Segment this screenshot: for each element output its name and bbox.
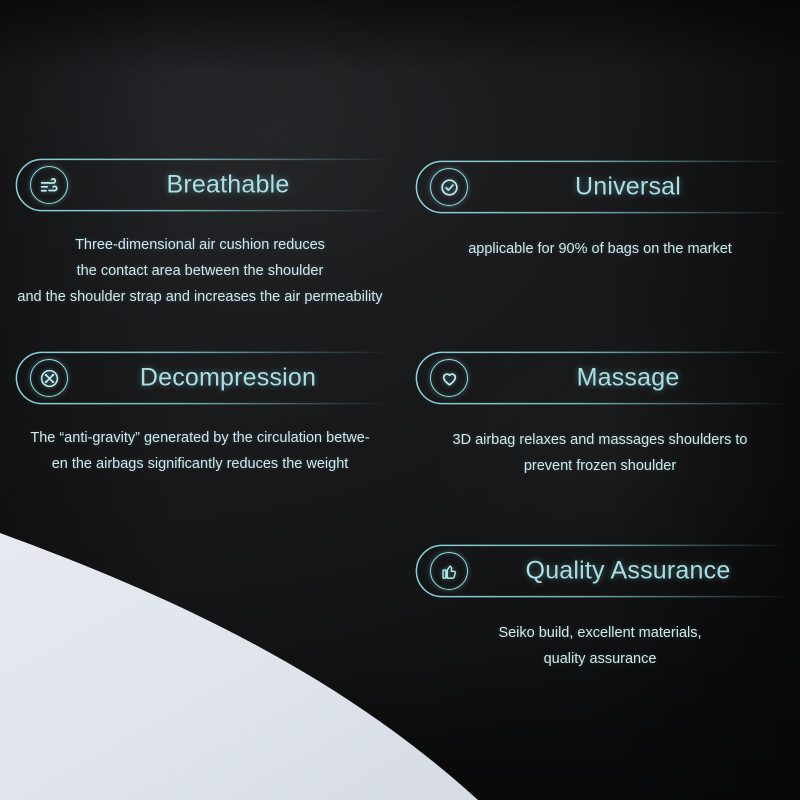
description-line: and the shoulder strap and increases the… [14, 284, 386, 310]
feature-title: Decompression [84, 364, 372, 393]
feature-title: Breathable [84, 171, 372, 200]
feature-card-universal[interactable]: Universal applicable for 90% of bags on … [414, 160, 786, 262]
feature-title: Universal [484, 173, 772, 202]
feature-description: applicable for 90% of bags on the market [414, 236, 786, 262]
feature-title: Massage [484, 364, 772, 393]
feature-description: Three-dimensional air cushion reduces th… [14, 232, 386, 310]
check-circle-icon [430, 168, 468, 206]
feature-card-breathable[interactable]: Breathable Three-dimensional air cushion… [14, 158, 386, 310]
description-line: applicable for 90% of bags on the market [414, 236, 786, 262]
feature-pill-universal: Universal [414, 160, 786, 214]
product-feature-panel: Breathable Three-dimensional air cushion… [0, 0, 800, 800]
feature-pill-breathable: Breathable [14, 158, 386, 212]
feature-description: 3D airbag relaxes and massages shoulders… [414, 427, 786, 479]
wind-icon [30, 166, 68, 204]
expand-nodes-icon [30, 359, 68, 397]
feature-card-massage[interactable]: Massage 3D airbag relaxes and massages s… [414, 351, 786, 479]
feature-pill-quality-assurance: Quality Assurance [414, 544, 786, 598]
feature-pill-decompression: Decompression [14, 351, 386, 405]
description-line: 3D airbag relaxes and massages shoulders… [414, 427, 786, 453]
feature-pill-massage: Massage [414, 351, 786, 405]
heart-icon [430, 359, 468, 397]
thumbs-up-icon [430, 552, 468, 590]
feature-card-decompression[interactable]: Decompression The “anti-gravity” generat… [14, 351, 386, 477]
feature-description: Seiko build, excellent materials, qualit… [414, 620, 786, 672]
description-line: en the airbags significantly reduces the… [14, 451, 386, 477]
feature-description: The “anti-gravity” generated by the circ… [14, 425, 386, 477]
description-line: the contact area between the shoulder [14, 258, 386, 284]
description-line: prevent frozen shoulder [414, 453, 786, 479]
feature-title: Quality Assurance [484, 557, 772, 586]
description-line: Seiko build, excellent materials, [414, 620, 786, 646]
feature-card-quality-assurance[interactable]: Quality Assurance Seiko build, excellent… [414, 544, 786, 672]
description-line: The “anti-gravity” generated by the circ… [14, 425, 386, 451]
description-line: quality assurance [414, 646, 786, 672]
description-line: Three-dimensional air cushion reduces [14, 232, 386, 258]
